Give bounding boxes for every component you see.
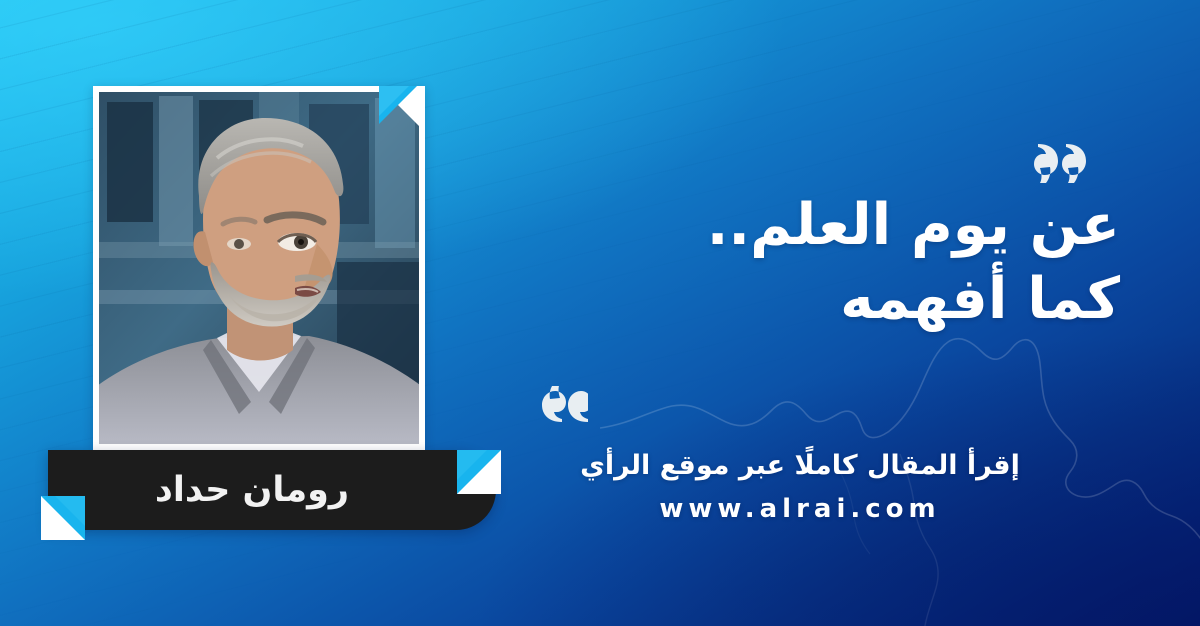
portrait-photo [99, 92, 419, 444]
author-name: رومان حداد [155, 470, 389, 510]
cta-block: إقرأ المقال كاملًا عبر موقع الرأي www.al… [480, 448, 1120, 524]
headline-line-2: كما أفهمه [480, 262, 1120, 336]
portrait-frame [93, 86, 425, 450]
quote-card: رومان حداد عن يوم العلم.. كما أفهمه [0, 0, 1200, 626]
cta-url[interactable]: www.alrai.com [480, 494, 1120, 524]
cta-text: إقرأ المقال كاملًا عبر موقع الرأي [480, 448, 1120, 484]
author-name-banner: رومان حداد [48, 450, 496, 530]
headline: عن يوم العلم.. كما أفهمه [480, 188, 1120, 336]
headline-line-1: عن يوم العلم.. [480, 188, 1120, 262]
